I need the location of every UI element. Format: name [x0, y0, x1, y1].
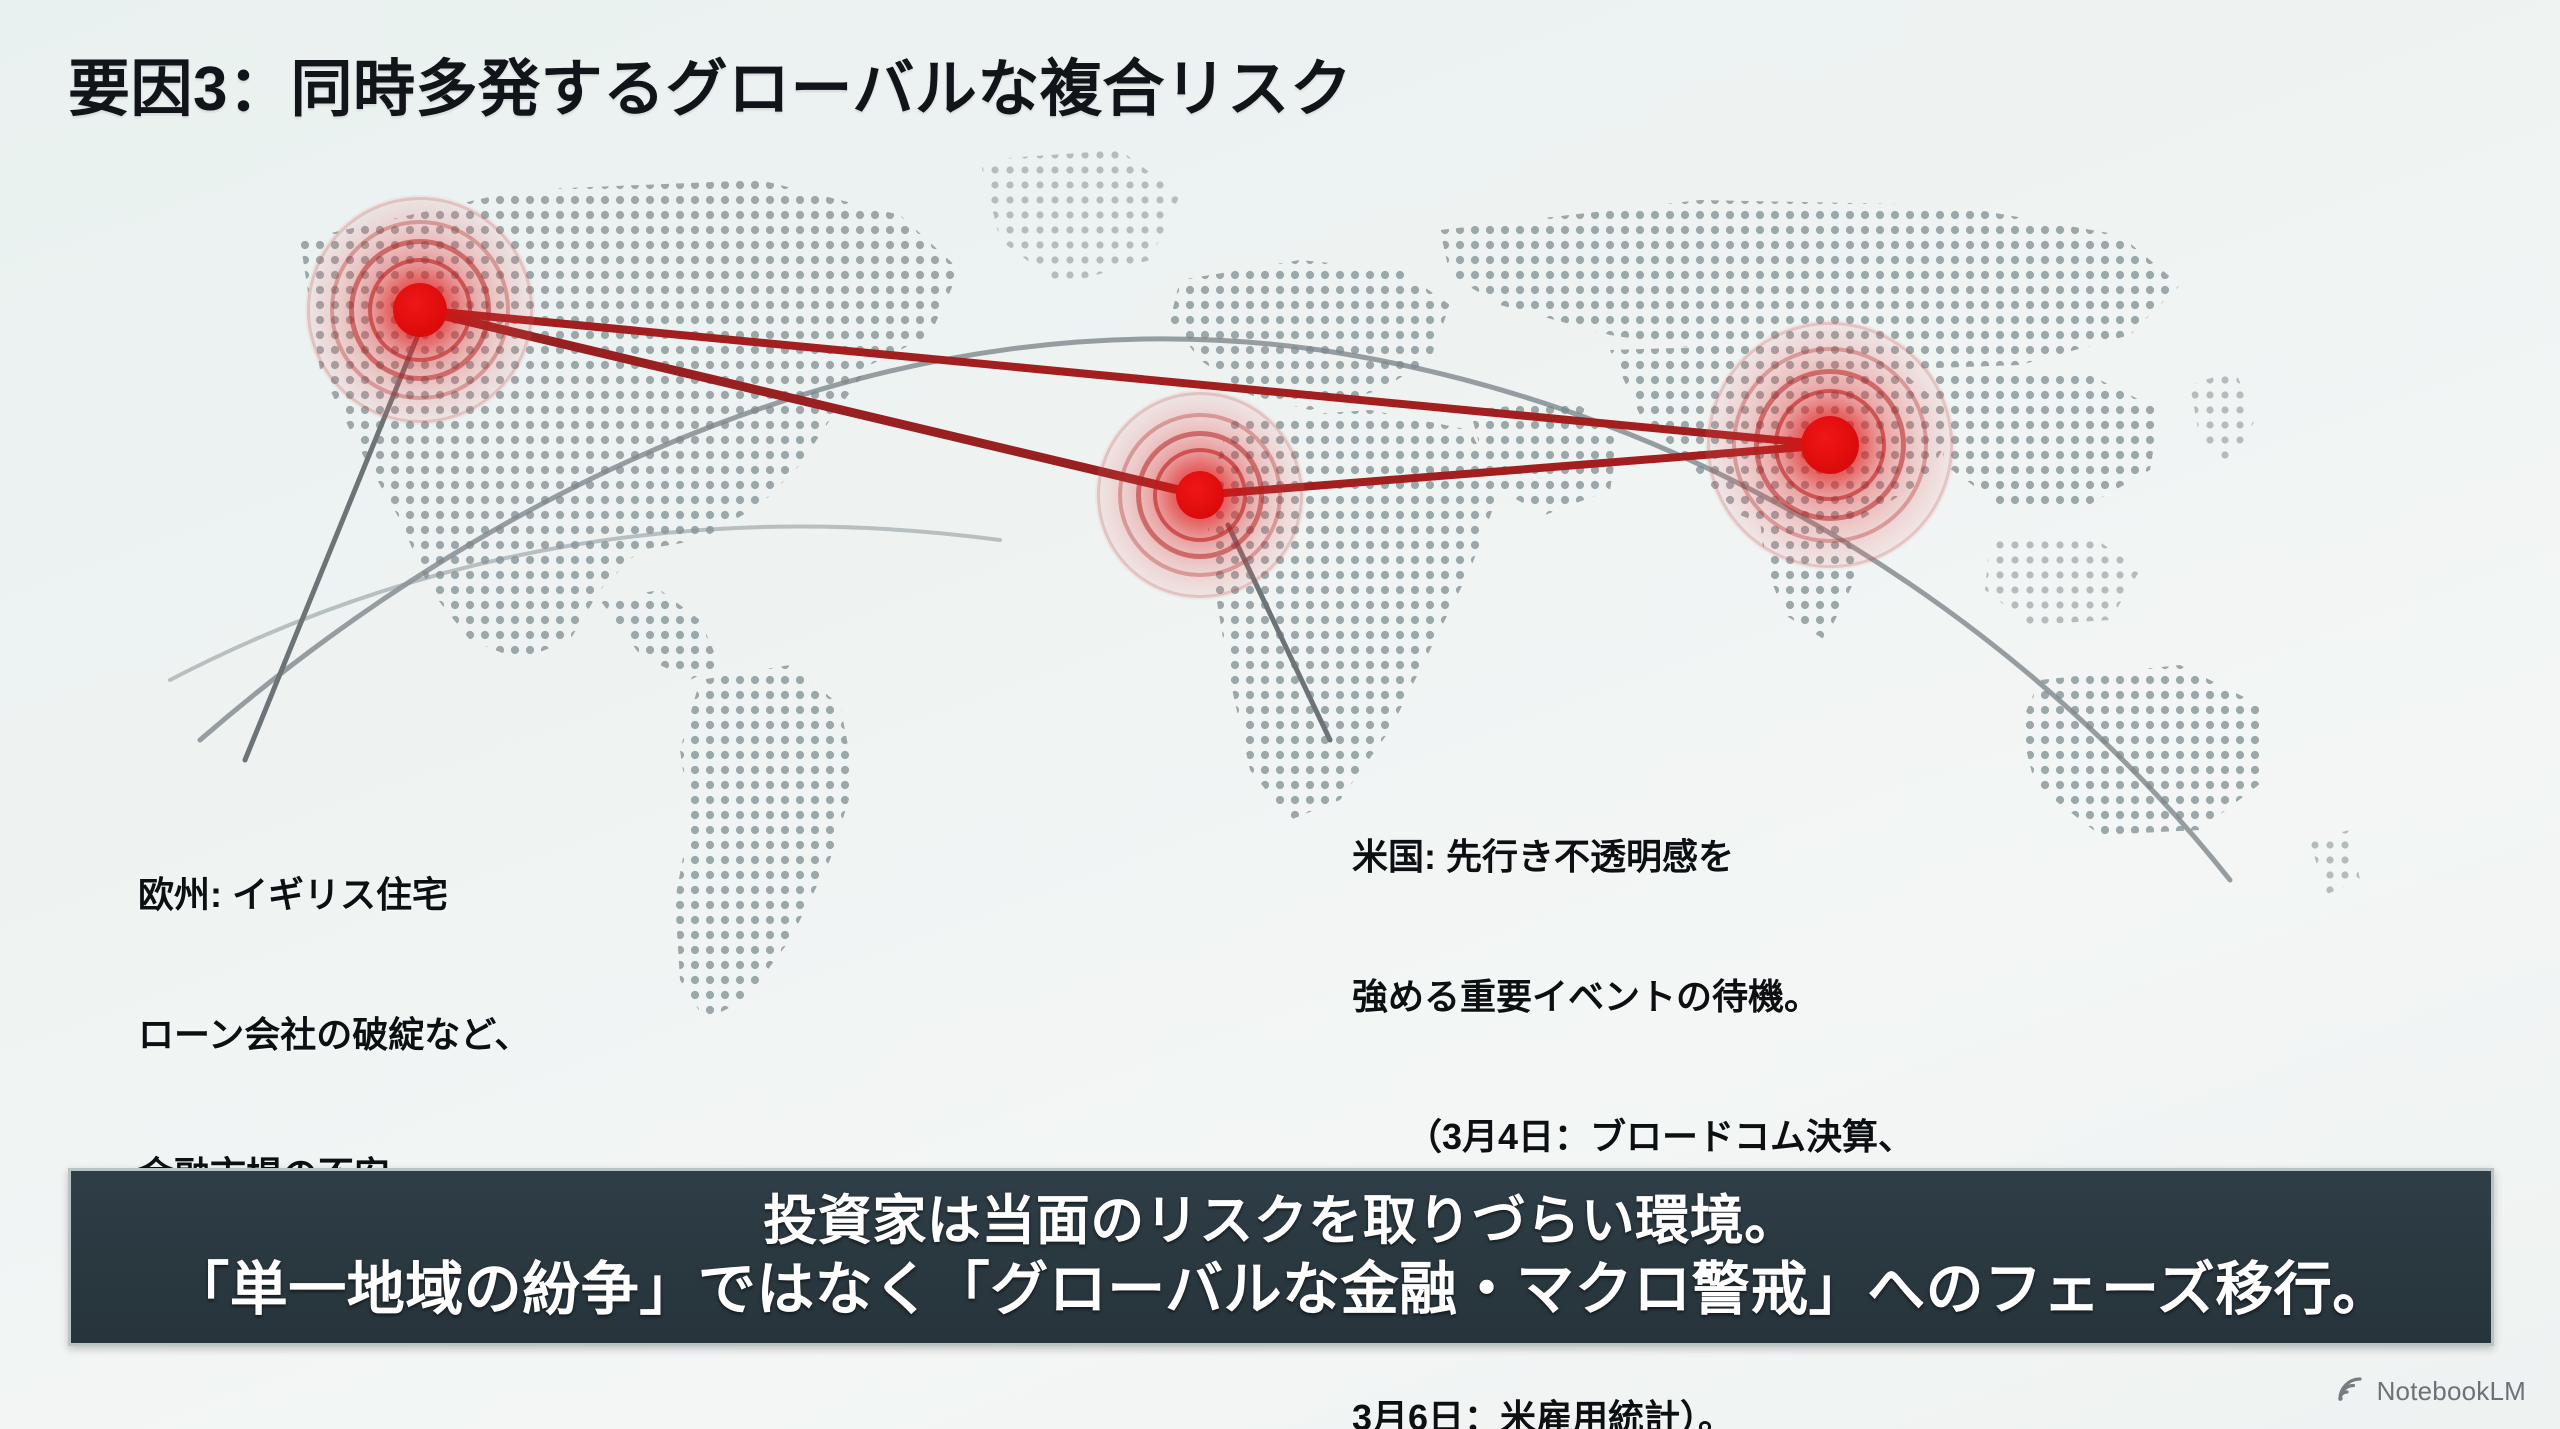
page-title: 要因3：同時多発するグローバルな複合リスク — [68, 38, 1352, 128]
notebooklm-spiral-icon — [2337, 1376, 2367, 1407]
annotation-us-line-2: 強める重要イベントの待機。 — [1352, 974, 1914, 1021]
banner-line-1: 投資家は当面のリスクを取りづらい環境。 — [763, 1189, 1799, 1255]
landmass-east-asia — [1930, 370, 2160, 510]
hotspot-core — [393, 283, 447, 337]
landmass-new-zealand — [2310, 830, 2360, 895]
notebooklm-watermark: NotebookLM — [2337, 1376, 2526, 1407]
landmass-southeast-asia — [1985, 535, 2140, 625]
landmass-south-america — [675, 665, 855, 1020]
conclusion-banner: 投資家は当面のリスクを取りづらい環境。 「単一地域の紛争」ではなく「グローバルな… — [68, 1168, 2494, 1346]
landmass-central-america — [600, 590, 720, 680]
annotation-us-line-1: 米国: 先行き不透明感を — [1352, 834, 1914, 881]
map-landmasses — [300, 150, 2360, 1020]
hotspot-core — [1801, 416, 1859, 474]
hotspot-core — [1176, 471, 1224, 519]
slide-canvas: 要因3：同時多発するグローバルな複合リスク — [0, 0, 2560, 1429]
landmass-australia — [2020, 665, 2265, 835]
annotation-europe-line-1: 欧州: イギリス住宅 — [138, 872, 530, 919]
annotation-europe-line-2: ローン会社の破綻など、 — [138, 1012, 530, 1059]
banner-line-2: 「単一地域の紛争」ではなく「グローバルな金融・マクロ警戒」へのフェーズ移行。 — [171, 1255, 2391, 1326]
annotation-us-line-3: （3月4日：ブロードコム決算、 — [1352, 1114, 1914, 1161]
landmass-japan — [2190, 370, 2255, 465]
landmass-greenland — [980, 150, 1180, 285]
annotation-us-line-5: 3月6日：米雇用統計）。 — [1352, 1395, 1914, 1429]
notebooklm-label: NotebookLM — [2377, 1376, 2526, 1407]
